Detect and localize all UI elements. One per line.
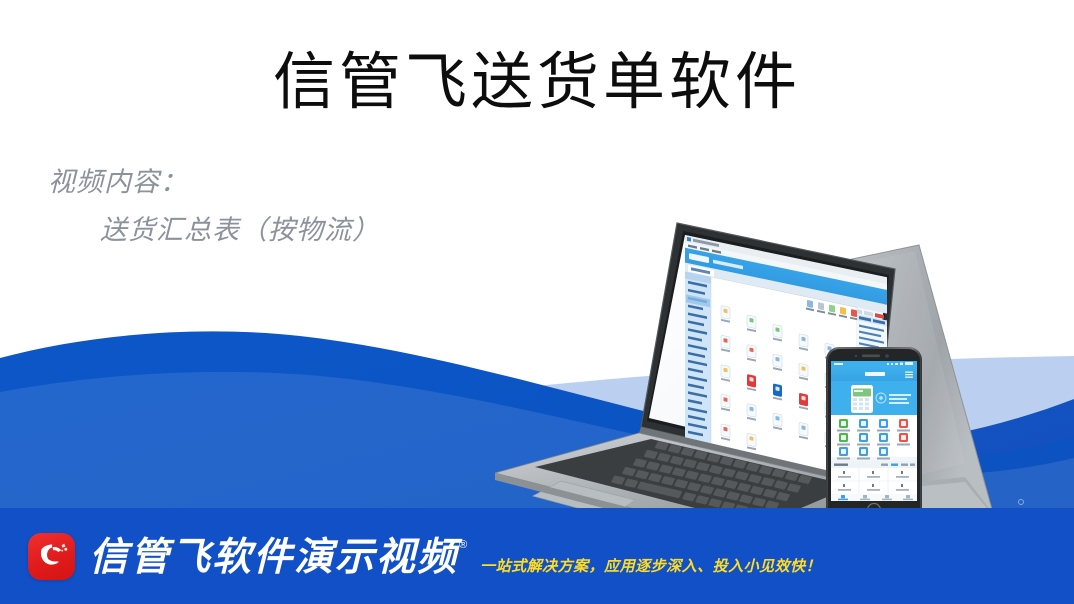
xinguanfei-logo xyxy=(28,533,75,580)
smartphone xyxy=(826,347,922,522)
banner-brand-title: 信管飞软件演示视频® xyxy=(89,531,466,580)
device-mockup-group xyxy=(495,195,1074,525)
slide-canvas: 信管飞送货单软件 视频内容： 送货汇总表（按物流） xyxy=(0,0,1074,604)
hamburger-icon xyxy=(905,372,913,378)
video-content-block: 视频内容： 送货汇总表（按物流） xyxy=(48,158,380,254)
registered-mark: ® xyxy=(459,539,467,551)
watermark-dot xyxy=(1018,499,1024,505)
page-title: 信管飞送货单软件 xyxy=(0,46,1074,120)
banner-brand-text: 信管飞软件演示视频 xyxy=(89,536,458,579)
logo-mark-icon xyxy=(28,533,75,580)
banner-tagline: 一站式解决方案，应用逐步深入、投入小见效快！ xyxy=(480,555,821,576)
bottom-banner: 信管飞软件演示视频® 一站式解决方案，应用逐步深入、投入小见效快！ xyxy=(0,508,1074,604)
video-content-label: 视频内容： xyxy=(48,167,188,197)
video-content-item: 送货汇总表（按物流） xyxy=(48,206,380,254)
